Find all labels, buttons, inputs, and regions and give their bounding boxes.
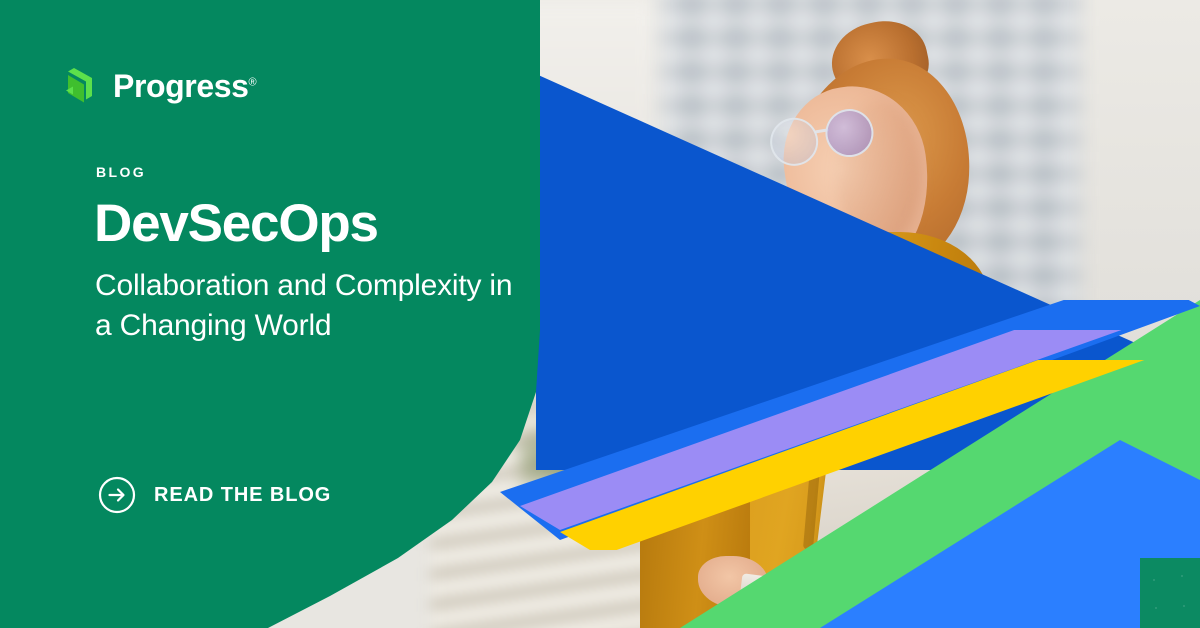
content-eyebrow: BLOG xyxy=(96,164,146,180)
progress-logo[interactable]: Progress® xyxy=(62,66,256,106)
glasses-lens-right xyxy=(822,106,877,161)
content-subhead: Collaboration and Complexity in a Changi… xyxy=(95,266,515,346)
promo-banner: Progress® BLOG DevSecOps Collaboration a… xyxy=(0,0,1200,628)
content-headline: DevSecOps xyxy=(94,196,378,252)
progress-wordmark: Progress® xyxy=(113,70,256,102)
brand-name: Progress xyxy=(113,68,249,104)
banner-content: Progress® BLOG DevSecOps Collaboration a… xyxy=(0,0,540,628)
progress-arrow-cube-logo-icon xyxy=(62,66,100,106)
read-the-blog-button[interactable]: READ THE BLOG xyxy=(98,476,331,514)
cta-label: READ THE BLOG xyxy=(154,485,331,505)
shape-teal-corner-block xyxy=(1140,558,1200,628)
glasses-lens-left xyxy=(767,114,822,169)
arrow-right-circle-icon xyxy=(98,476,136,514)
registered-mark: ® xyxy=(249,76,257,88)
